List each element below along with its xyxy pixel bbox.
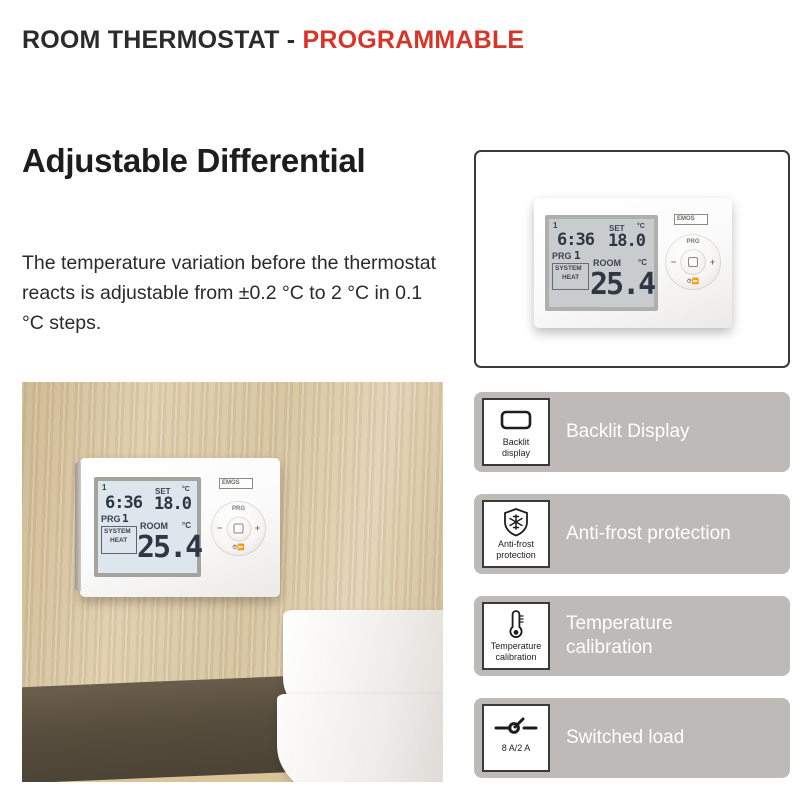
lcd-set-unit: °C [637, 223, 645, 230]
minus-button[interactable]: − [214, 523, 225, 533]
prg-button[interactable]: PRG [211, 506, 266, 512]
header-separator: - [280, 26, 303, 54]
plus-button[interactable]: + [707, 257, 718, 267]
feature-label: Temperature calibration [566, 612, 673, 660]
control-wheel-large[interactable]: PRG − + ⏱⏩ [211, 501, 266, 556]
lcd-prg-label: PRG [552, 251, 572, 261]
minus-button[interactable]: − [668, 257, 679, 267]
feature-card-switched-load[interactable]: 8 A/2 A Switched load [474, 698, 790, 778]
clock-advance-icon[interactable]: ⏱⏩ [211, 544, 266, 552]
feature-tile-caption: 8 A/2 A [502, 743, 531, 754]
feature-icon-tile: Anti-frost protection [482, 500, 550, 568]
lcd-screen-small: 1 6:36 SET °C 18.0 PRG 1 SYSTEM HEAT ROO… [545, 215, 658, 311]
stop-square-icon [234, 524, 244, 534]
feature-label: Switched load [566, 726, 684, 750]
feature-label: Backlit Display [566, 420, 690, 444]
lcd-program-index: 1 [553, 221, 557, 230]
lcd-prg-value: 1 [574, 249, 581, 262]
lcd-set-value: 18.0 [608, 231, 645, 251]
feature-icon-tile: 8 A/2 A [482, 704, 550, 772]
brand-label: EMOS [674, 214, 708, 225]
lcd-room-value: 25.4 [137, 530, 201, 565]
page-title: Adjustable Differential [22, 142, 365, 180]
device-side-edge [75, 462, 81, 591]
lcd-set-value: 18.0 [154, 494, 191, 514]
lcd-system-box: SYSTEM HEAT [552, 263, 589, 290]
lcd-prg-label: PRG [101, 514, 121, 524]
lcd-mode-label: HEAT [110, 537, 127, 544]
feature-card-temperature-calibration[interactable]: Temperature calibration Temperature cali… [474, 596, 790, 676]
lcd-system-label: SYSTEM [104, 528, 131, 535]
display-icon [484, 405, 548, 435]
feature-card-anti-frost-protection[interactable]: Anti-frost protection Anti-frost protect… [474, 494, 790, 574]
lcd-prg-value: 1 [122, 512, 129, 525]
product-image-panel: 1 6:36 SET °C 18.0 PRG 1 SYSTEM HEAT ROO… [474, 150, 790, 368]
center-button[interactable] [680, 249, 706, 275]
feature-label: Anti-frost protection [566, 522, 731, 546]
center-button[interactable] [226, 516, 251, 541]
lcd-system-label: SYSTEM [555, 265, 582, 272]
lcd-room-value: 25.4 [590, 267, 654, 302]
feature-card-backlit-display[interactable]: Backlit display Backlit Display [474, 392, 790, 472]
feature-tile-caption: Backlit display [502, 437, 530, 458]
product-feature-page: ROOM THERMOSTAT - PROGRAMMABLE Adjustabl… [0, 0, 800, 800]
page-header: ROOM THERMOSTAT - PROGRAMMABLE [22, 26, 524, 55]
feature-icon-tile: Temperature calibration [482, 602, 550, 670]
lcd-room-unit: °C [182, 521, 191, 530]
lcd-set-unit: °C [182, 486, 190, 493]
lcd-screen-large: 1 6:36 SET °C 18.0 PRG 1 SYSTEM HEAT ROO… [94, 477, 201, 577]
control-wheel-small[interactable]: PRG − + ⏱⏩ [665, 234, 721, 290]
prg-button[interactable]: PRG [665, 239, 721, 245]
shield-snowflake-icon [484, 507, 548, 537]
feature-tile-caption: Anti-frost protection [496, 539, 536, 560]
lcd-mode-label: HEAT [562, 274, 579, 281]
lcd-time: 6:36 [105, 493, 142, 513]
thermostat-device-large: 1 6:36 SET °C 18.0 PRG 1 SYSTEM HEAT ROO… [80, 458, 280, 597]
clock-advance-icon[interactable]: ⏱⏩ [665, 278, 721, 286]
switch-contact-icon [484, 711, 548, 741]
description-text: The temperature variation before the the… [22, 248, 442, 338]
lcd-system-box: SYSTEM HEAT [101, 526, 137, 554]
thermometer-icon [484, 609, 548, 639]
feature-icon-tile: Backlit display [482, 398, 550, 466]
header-prefix: ROOM THERMOSTAT [22, 26, 280, 54]
lcd-room-unit: °C [638, 258, 647, 267]
bowl-lower [277, 694, 443, 782]
thermostat-device-small: 1 6:36 SET °C 18.0 PRG 1 SYSTEM HEAT ROO… [534, 198, 732, 328]
feature-tile-caption: Temperature calibration [491, 641, 542, 662]
lcd-program-index: 1 [102, 483, 106, 492]
thermostat-lifestyle-photo: 1 6:36 SET °C 18.0 PRG 1 SYSTEM HEAT ROO… [22, 382, 443, 782]
header-accent: PROGRAMMABLE [302, 26, 524, 54]
lcd-time: 6:36 [557, 230, 594, 250]
stop-square-icon [688, 257, 698, 267]
brand-label: EMOS [219, 478, 253, 489]
plus-button[interactable]: + [252, 523, 263, 533]
